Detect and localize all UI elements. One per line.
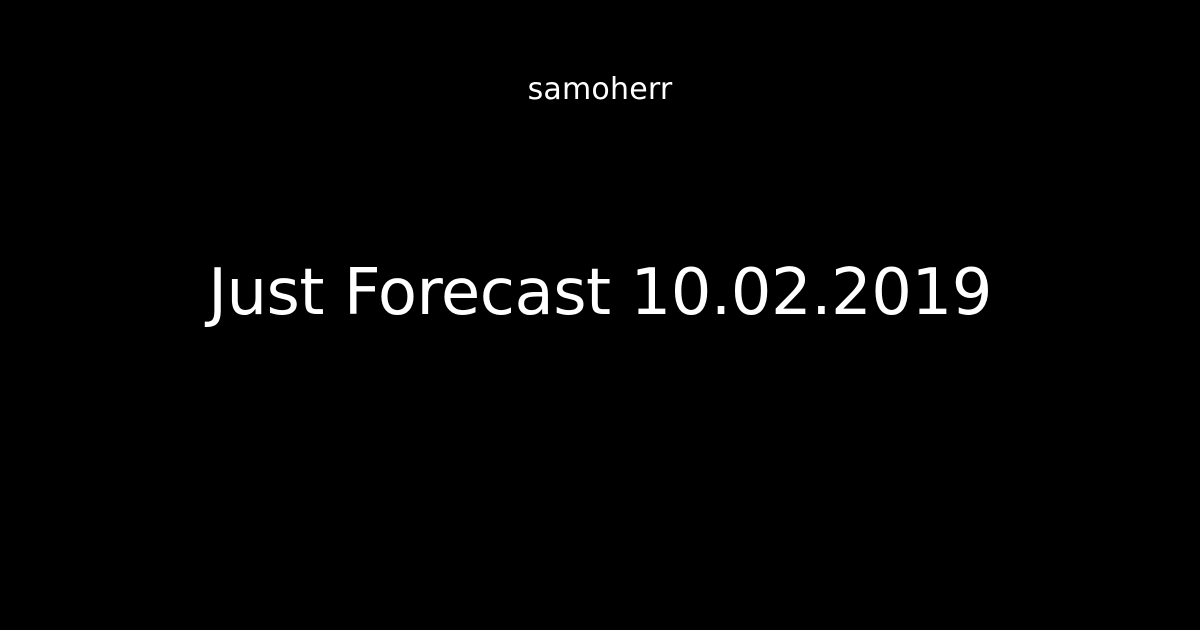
headline-date-text: 10.02.2019 bbox=[630, 256, 991, 330]
headline-title-text: Just Forecast bbox=[208, 256, 611, 330]
page-title: Just Forecast 10.02.2019 bbox=[208, 256, 992, 330]
headline-container: Just Forecast 10.02.2019 bbox=[0, 255, 1200, 331]
headline-space bbox=[611, 256, 631, 330]
social-preview-card: samoherr Just Forecast 10.02.2019 bbox=[0, 0, 1200, 630]
site-name: samoherr bbox=[0, 70, 1200, 110]
